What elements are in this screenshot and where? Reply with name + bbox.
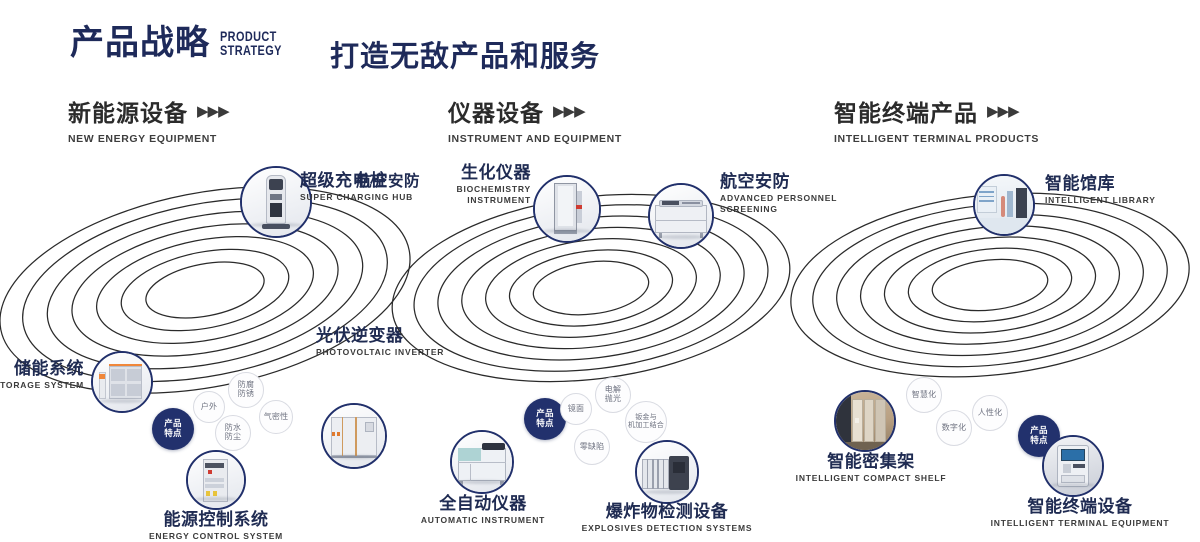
feature-bubble-outdoor: 户外 <box>193 391 225 423</box>
page-title-english-line2: STRATEGY <box>220 43 282 57</box>
feature-bubble-electropolishing: 电解 抛光 <box>595 377 631 413</box>
intelligent-terminal-equipment-photo <box>1044 437 1102 495</box>
caption-cn: 航空安防 <box>330 173 420 190</box>
caption-energy-control-system: 能源控制系统 ENERGY CONTROL SYSTEM <box>116 510 316 542</box>
node-automatic-instrument[interactable] <box>450 430 514 494</box>
intelligent-compact-shelf-photo <box>836 392 894 450</box>
feature-bubble-digitalization: 数字化 <box>936 410 972 446</box>
section-title-intelligent-terminal: 智能终端产品 ▶▶▶ INTELLIGENT TERMINAL PRODUCTS <box>834 94 1039 145</box>
product-strategy-infographic: 产品战略 PRODUCT STRATEGY 打造无敌产品和服务 新能源设备 ▶▶… <box>0 0 1200 422</box>
section-title-en: INSTRUMENT AND EQUIPMENT <box>448 133 622 145</box>
feature-bubble-humanization: 人性化 <box>972 395 1008 431</box>
advanced-personnel-screening-photo <box>650 185 712 247</box>
feature-bubble-anticorrosion: 防腐 防锈 <box>228 372 264 408</box>
caption-en: INTELLIGENT TERMINAL EQUIPMENT <box>980 518 1180 529</box>
section-title-cn: 智能终端产品 ▶▶▶ <box>834 94 1039 128</box>
core-badge-line1: 产品 <box>1030 425 1047 435</box>
caption-cn: 爆炸物检测设备 <box>577 502 757 521</box>
caption-en: AUTOMATIC INSTRUMENT <box>395 515 571 526</box>
page-title-english: PRODUCT STRATEGY <box>220 29 282 57</box>
energy-storage-photo <box>93 353 151 411</box>
feature-bubble-zero-defect: 零缺陷 <box>574 429 610 465</box>
node-photovoltaic-inverter[interactable] <box>321 403 387 469</box>
section-title-en: NEW ENERGY EQUIPMENT <box>68 133 229 145</box>
cluster-instrument: 产品 特点 镜面 电解 抛光 钣金与 机加工结合 零缺陷 <box>395 150 795 415</box>
feature-core-badge: 产品 特点 <box>152 408 194 450</box>
caption-en: ENERGY STORAGE SYSTEM <box>0 380 84 391</box>
chevron-triple-icon: ▶▶▶ <box>553 104 585 119</box>
chevron-triple-icon: ▶▶▶ <box>987 104 1019 119</box>
feature-bubble-intelligence: 智慧化 <box>906 377 942 413</box>
section-title-instrument: 仪器设备 ▶▶▶ INSTRUMENT AND EQUIPMENT <box>448 94 622 145</box>
feature-bubble-airtight: 气密性 <box>259 400 293 434</box>
node-intelligent-compact-shelf[interactable] <box>834 390 896 452</box>
core-badge-line1: 产品 <box>536 408 553 418</box>
caption-intelligent-compact-shelf: 智能密集架 INTELLIGENT COMPACT SHELF <box>778 452 964 484</box>
section-title-cn: 新能源设备 ▶▶▶ <box>68 94 229 128</box>
page-title-english-line1: PRODUCT <box>220 29 282 43</box>
core-badge-line1: 产品 <box>164 418 181 428</box>
caption-cn: 能源控制系统 <box>116 510 316 529</box>
automatic-instrument-photo <box>452 432 512 492</box>
page-title: 产品战略 <box>70 26 210 60</box>
core-badge-line2: 特点 <box>164 428 181 438</box>
cluster-intelligent-terminal: 智慧化 人性化 数字化 产品 特点 <box>790 150 1200 415</box>
node-intelligent-terminal-equipment[interactable] <box>1042 435 1104 497</box>
caption-biochemistry-instrument: 生化仪器 BIOCHEMISTRY INSTRUMENT <box>417 163 531 205</box>
section-title-cn-text: 智能终端产品 <box>834 94 978 128</box>
caption-energy-storage-system: 储能系统 ENERGY STORAGE SYSTEM <box>0 359 84 391</box>
feature-bubble-sheetmetal-machining: 钣金与 机加工结合 <box>625 401 667 443</box>
caption-en: INTELLIGENT COMPACT SHELF <box>778 473 964 484</box>
feature-bubble-mirror: 镜面 <box>560 393 592 425</box>
node-intelligent-library[interactable] <box>973 174 1035 236</box>
caption-automatic-instrument: 全自动仪器 AUTOMATIC INSTRUMENT <box>395 494 571 526</box>
caption-cn: 智能馆库 <box>1045 174 1156 193</box>
caption-cn: 储能系统 <box>0 359 84 378</box>
feature-bubble-waterproof: 防水 防尘 <box>215 415 251 451</box>
chevron-triple-icon: ▶▶▶ <box>197 104 229 119</box>
section-title-cn: 仪器设备 ▶▶▶ <box>448 94 622 128</box>
section-title-cn-text: 仪器设备 <box>448 94 544 128</box>
node-energy-control-system[interactable] <box>186 450 246 510</box>
explosives-detection-photo <box>637 442 697 502</box>
energy-control-system-photo <box>188 452 244 508</box>
intelligent-library-photo <box>975 176 1033 234</box>
section-title-cn-text: 新能源设备 <box>68 94 188 128</box>
caption-en: BIOCHEMISTRY INSTRUMENT <box>417 184 531 205</box>
caption-aviation-security-extra: 航空安防 <box>330 173 420 190</box>
node-energy-storage-system[interactable] <box>91 351 153 413</box>
page-header: 产品战略 PRODUCT STRATEGY <box>70 26 299 60</box>
caption-cn: 全自动仪器 <box>395 494 571 513</box>
caption-en: EXPLOSIVES DETECTION SYSTEMS <box>577 523 757 534</box>
biochemistry-instrument-photo <box>535 177 599 241</box>
node-explosives-detection-systems[interactable] <box>635 440 699 504</box>
node-advanced-personnel-screening[interactable] <box>648 183 714 249</box>
caption-cn: 生化仪器 <box>417 163 531 182</box>
caption-cn: 智能终端设备 <box>980 497 1180 516</box>
caption-intelligent-library: 智能馆库 INTELLIGENT LIBRARY <box>1045 174 1156 206</box>
caption-en: ENERGY CONTROL SYSTEM <box>116 531 316 542</box>
caption-en: INTELLIGENT LIBRARY <box>1045 195 1156 206</box>
header-slogan: 打造无敌产品和服务 <box>330 33 600 75</box>
core-badge-line2: 特点 <box>536 418 553 428</box>
section-title-en: INTELLIGENT TERMINAL PRODUCTS <box>834 133 1039 145</box>
caption-cn: 智能密集架 <box>778 452 964 471</box>
photovoltaic-inverter-photo <box>323 405 385 467</box>
node-biochemistry-instrument[interactable] <box>533 175 601 243</box>
section-title-new-energy: 新能源设备 ▶▶▶ NEW ENERGY EQUIPMENT <box>68 94 229 145</box>
caption-intelligent-terminal-equipment: 智能终端设备 INTELLIGENT TERMINAL EQUIPMENT <box>980 497 1180 529</box>
caption-explosives-detection-systems: 爆炸物检测设备 EXPLOSIVES DETECTION SYSTEMS <box>577 502 757 534</box>
